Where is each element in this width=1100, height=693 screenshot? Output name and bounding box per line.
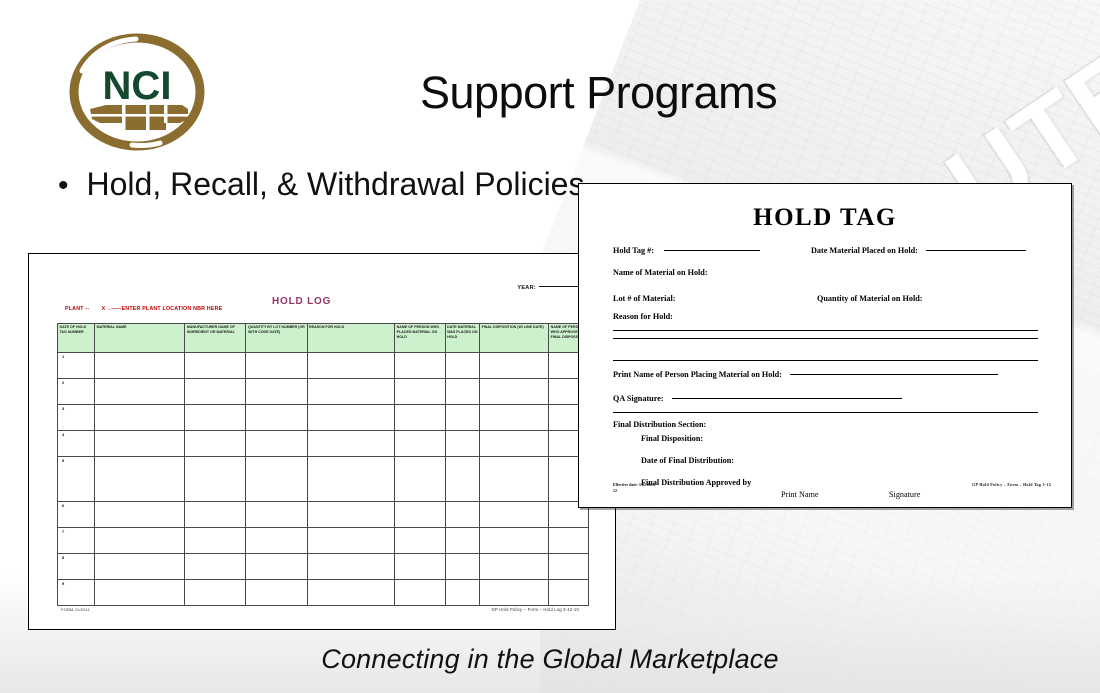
hold-tag-document: HOLD TAG Hold Tag #: Date Material Place…	[578, 183, 1072, 508]
table-cell	[445, 457, 480, 502]
table-cell	[395, 379, 445, 405]
table-cell	[395, 528, 445, 554]
page-title: Support Programs	[420, 69, 890, 116]
table-cell	[185, 502, 246, 528]
row-number: 1	[58, 353, 95, 379]
hold-tag-footer-left: Effective date: 3/22/2010 12	[613, 482, 655, 493]
table-cell	[395, 431, 445, 457]
table-cell	[185, 528, 246, 554]
signature-caption: Signature	[889, 490, 920, 499]
plant-instruction: ENTER PLANT LOCATION NBR HERE	[122, 306, 223, 312]
column-header: MANUFACTURER NAME OF INGREDIENT OR MATER…	[185, 324, 246, 353]
table-header-row: DATE OF HOLD TAG NUMBER MATERIAL NAME MA…	[58, 324, 589, 353]
table-cell	[185, 457, 246, 502]
date-placed-blank	[926, 249, 1026, 251]
table-cell	[246, 405, 307, 431]
column-header: NAME OF PERSON WHO PLACED MATERIAL ON HO…	[395, 324, 445, 353]
table-cell	[185, 431, 246, 457]
table-cell	[480, 528, 549, 554]
table-cell	[185, 379, 246, 405]
qa-signature-blank	[672, 397, 902, 399]
table-cell	[395, 502, 445, 528]
column-header: QUANTITY BY LOT NUMBER (OR WITH CODE DAT…	[246, 324, 307, 353]
bullet-item-label: Hold, Recall, & Withdrawal Policies	[87, 165, 585, 207]
table-cell	[549, 580, 589, 606]
hold-log-table: DATE OF HOLD TAG NUMBER MATERIAL NAME MA…	[57, 323, 589, 606]
table-cell	[246, 431, 307, 457]
table-row: 1	[58, 353, 589, 379]
hold-log-document: PLANT -- X ←—— ENTER PLANT LOCATION NBR …	[28, 253, 616, 630]
hold-tag-footer-right: GP Hold Policy – Form – Hold Tag 3-12	[972, 482, 1051, 487]
page-number: 12	[613, 488, 655, 493]
hold-tag-number-blank	[664, 249, 760, 251]
table-row: 2	[58, 379, 589, 405]
logo-grain-bag-icon	[90, 103, 188, 131]
table-cell	[95, 379, 185, 405]
table-cell	[395, 580, 445, 606]
table-cell	[445, 528, 480, 554]
table-cell	[307, 431, 395, 457]
table-cell	[246, 580, 307, 606]
plant-marker: X	[102, 306, 106, 312]
table-cell	[445, 405, 480, 431]
table-cell	[185, 353, 246, 379]
column-header: REASON FOR HOLD	[307, 324, 395, 353]
table-cell	[185, 580, 246, 606]
table-cell	[480, 457, 549, 502]
table-cell	[307, 405, 395, 431]
table-cell	[307, 379, 395, 405]
table-cell	[95, 502, 185, 528]
table-row: 9	[58, 580, 589, 606]
table-cell	[480, 405, 549, 431]
table-cell	[480, 554, 549, 580]
table-cell	[395, 457, 445, 502]
row-number: 8	[58, 554, 95, 580]
tagline: Connecting in the Global Marketplace	[0, 644, 1100, 675]
row-number: 5	[58, 457, 95, 502]
logo-wordmark: NCI	[103, 64, 172, 108]
row-number: 9	[58, 580, 95, 606]
table-cell	[246, 353, 307, 379]
table-cell	[95, 405, 185, 431]
material-name-label: Name of Material on Hold:	[613, 268, 708, 277]
table-cell	[185, 405, 246, 431]
table-row: 8	[58, 554, 589, 580]
slide-canvas: UTE NCI Support Programs • Hold, R	[0, 0, 1100, 693]
final-distribution-heading: Final Distribution Section:	[613, 420, 706, 429]
table-cell	[480, 379, 549, 405]
column-header: DATE OF HOLD TAG NUMBER	[58, 324, 95, 353]
table-cell	[480, 580, 549, 606]
date-placed-field: Date Material Placed on Hold:	[811, 246, 1026, 255]
qa-signature-field: QA Signature:	[613, 394, 902, 403]
hold-tag-number-label: Hold Tag #:	[613, 246, 654, 255]
lot-number-label: Lot # of Material:	[613, 294, 676, 303]
table-cell	[395, 554, 445, 580]
table-cell	[395, 353, 445, 379]
table-cell	[246, 502, 307, 528]
final-distribution-approved-label: Final Distribution Approved by	[641, 478, 751, 487]
table-cell	[307, 580, 395, 606]
table-cell	[307, 457, 395, 502]
table-cell	[445, 580, 480, 606]
reason-for-hold-label: Reason for Hold:	[613, 312, 673, 321]
table-cell	[445, 431, 480, 457]
reason-line-2	[613, 338, 1038, 339]
table-cell	[480, 431, 549, 457]
qa-signature-label: QA Signature:	[613, 394, 664, 403]
table-cell	[549, 554, 589, 580]
print-name-caption: Print Name	[781, 490, 819, 499]
table-row: 5	[58, 457, 589, 502]
table-cell	[480, 353, 549, 379]
table-cell	[307, 502, 395, 528]
table-cell	[307, 528, 395, 554]
hold-log-footer-left: FORM 11/2011	[61, 607, 90, 612]
svg-text:NCI: NCI	[103, 64, 172, 108]
table-row: 3	[58, 405, 589, 431]
table-cell	[246, 554, 307, 580]
table-cell	[95, 431, 185, 457]
date-of-final-distribution-label: Date of Final Distribution:	[641, 456, 734, 465]
row-number: 4	[58, 431, 95, 457]
table-cell	[246, 528, 307, 554]
nci-logo: NCI	[62, 33, 212, 151]
column-header: MATERIAL NAME	[95, 324, 185, 353]
column-header: DATE MATERIAL WAS PLACED ON HOLD	[445, 324, 480, 353]
final-disposition-label: Final Disposition:	[641, 434, 703, 443]
table-cell	[549, 528, 589, 554]
bullet-marker: •	[58, 165, 69, 207]
bullet-list: • Hold, Recall, & Withdrawal Policies	[58, 165, 588, 207]
table-row: 6	[58, 502, 589, 528]
quantity-label: Quantity of Material on Hold:	[817, 294, 923, 303]
table-cell	[95, 457, 185, 502]
effective-date: Effective date: 3/22/2010	[613, 482, 655, 487]
hold-log-year-field: YEAR:	[517, 285, 587, 291]
table-cell	[445, 353, 480, 379]
hold-log-title: HOLD LOG	[272, 296, 331, 307]
table-cell	[246, 379, 307, 405]
hold-log-footer-right: GP Hold Policy – Form – Hold Log 3-12-10	[491, 607, 579, 612]
row-number: 3	[58, 405, 95, 431]
plant-label: PLANT --	[65, 306, 89, 312]
table-cell	[246, 457, 307, 502]
row-number: 7	[58, 528, 95, 554]
hold-tag-title: HOLD TAG	[579, 204, 1071, 232]
table-cell	[445, 554, 480, 580]
table-cell	[95, 554, 185, 580]
plant-arrow-icon: ←——	[107, 306, 120, 312]
print-name-label: Print Name of Person Placing Material on…	[613, 370, 782, 379]
hold-log-plant-line: PLANT -- X ←—— ENTER PLANT LOCATION NBR …	[65, 306, 222, 312]
table-row: 4	[58, 431, 589, 457]
table-cell	[95, 528, 185, 554]
table-cell	[395, 405, 445, 431]
row-number: 6	[58, 502, 95, 528]
table-cell	[445, 502, 480, 528]
table-cell	[95, 353, 185, 379]
print-name-field: Print Name of Person Placing Material on…	[613, 370, 998, 379]
row-number: 2	[58, 379, 95, 405]
table-cell	[480, 502, 549, 528]
table-row: 7	[58, 528, 589, 554]
reason-line-3	[613, 360, 1038, 361]
table-cell	[95, 580, 185, 606]
year-label: YEAR	[517, 285, 533, 291]
table-cell	[445, 379, 480, 405]
hold-tag-number-field: Hold Tag #:	[613, 246, 760, 255]
final-section-divider	[613, 412, 1038, 413]
print-name-blank	[790, 373, 998, 375]
date-placed-label: Date Material Placed on Hold:	[811, 246, 918, 255]
table-cell	[185, 554, 246, 580]
reason-line-1	[613, 330, 1038, 331]
table-cell	[307, 353, 395, 379]
column-header: FINAL DISPOSITION (W/ LINE DATE)	[480, 324, 549, 353]
table-cell	[307, 554, 395, 580]
